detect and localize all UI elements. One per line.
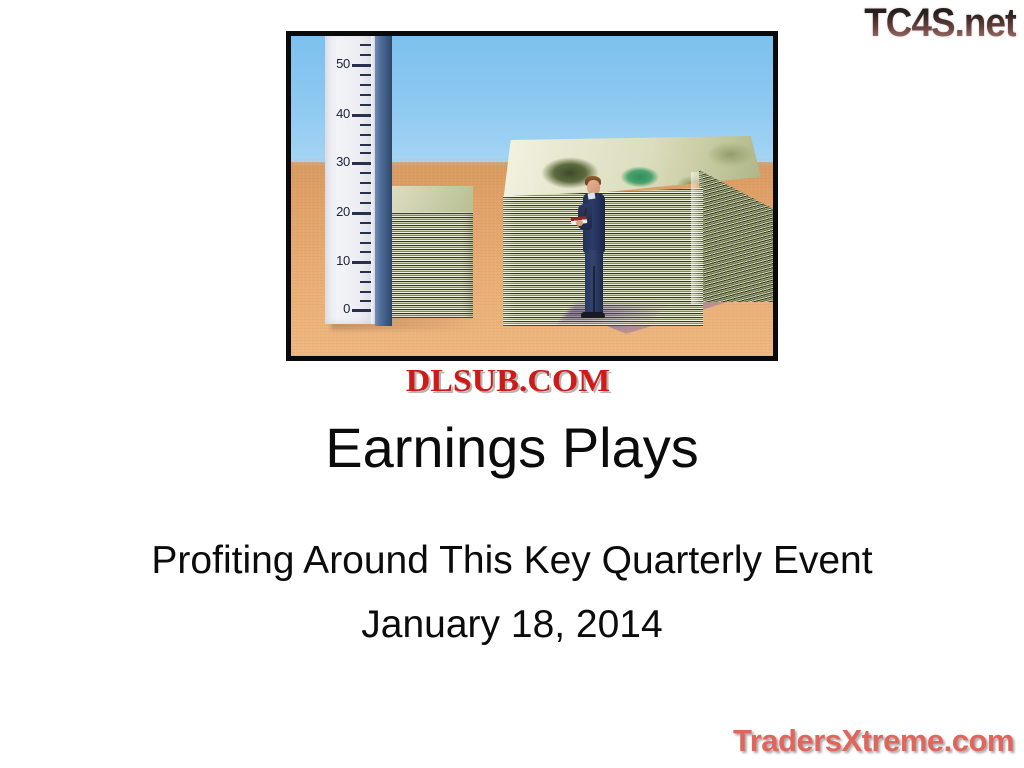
ruler-minor-tick [360,232,371,234]
ruler-minor-tick [360,242,371,244]
ruler-minor-tick [360,291,371,293]
illustration-canvas: 50403020100 [291,36,773,356]
money-stack-corner-highlight [691,172,705,304]
ruler-major-tick [352,162,371,165]
ruler-number-label: 10 [325,253,350,268]
ruler-minor-tick [360,172,371,174]
large-money-stack [503,136,773,326]
businessman-hand [576,220,583,226]
ruler-major-tick [352,64,371,67]
businessman-shirt-collar [588,193,596,200]
dlsub-watermark: DLSUB.COM [353,364,663,396]
ruler-minor-tick [360,84,371,86]
businessman-shoes [581,312,605,318]
ruler-minor-tick [360,152,371,154]
ruler-number-label: 30 [325,154,350,169]
ruler-minor-tick [360,144,371,146]
ruler-minor-tick [360,222,371,224]
ruler-number-label: 20 [325,204,350,219]
tc4s-watermark: TC4S.net [864,2,1016,44]
ruler-number-label: 0 [325,301,350,316]
ruler-minor-tick [360,192,371,194]
ruler-major-tick [352,309,371,312]
ruler-minor-tick [360,182,371,184]
ruler-minor-tick [360,271,371,273]
businessman-shadow [558,302,668,324]
ruler-minor-tick [360,251,371,253]
slide-date: January 18, 2014 [0,604,1024,647]
ruler-minor-tick [360,54,371,56]
ruler-major-tick [352,212,371,215]
ruler-minor-tick [360,134,371,136]
ruler-measuring-stick: 50403020100 [325,36,391,324]
ruler-minor-tick [360,202,371,204]
money-stack-side-face [699,170,773,302]
ruler-minor-tick [360,44,371,46]
ruler-major-tick [352,114,371,117]
ruler-side-edge [375,36,392,326]
ruler-minor-tick [360,104,371,106]
businessman-figure [575,174,615,326]
businessman-leg-split [593,266,595,312]
illustration-image: 50403020100 [286,31,778,361]
ruler-number-label: 50 [325,56,350,71]
ruler-minor-tick [360,124,371,126]
ruler-minor-tick [360,281,371,283]
tradersxtreme-watermark: TradersXtreme.com [733,725,1014,756]
ruler-number-label: 40 [325,106,350,121]
ruler-minor-tick [360,74,371,76]
slide-subtitle: Profiting Around This Key Quarterly Even… [0,540,1024,583]
page-title: Earnings Plays [0,418,1024,478]
ruler-minor-tick [360,300,371,302]
ruler-major-tick [352,261,371,264]
ruler-minor-tick [360,94,371,96]
